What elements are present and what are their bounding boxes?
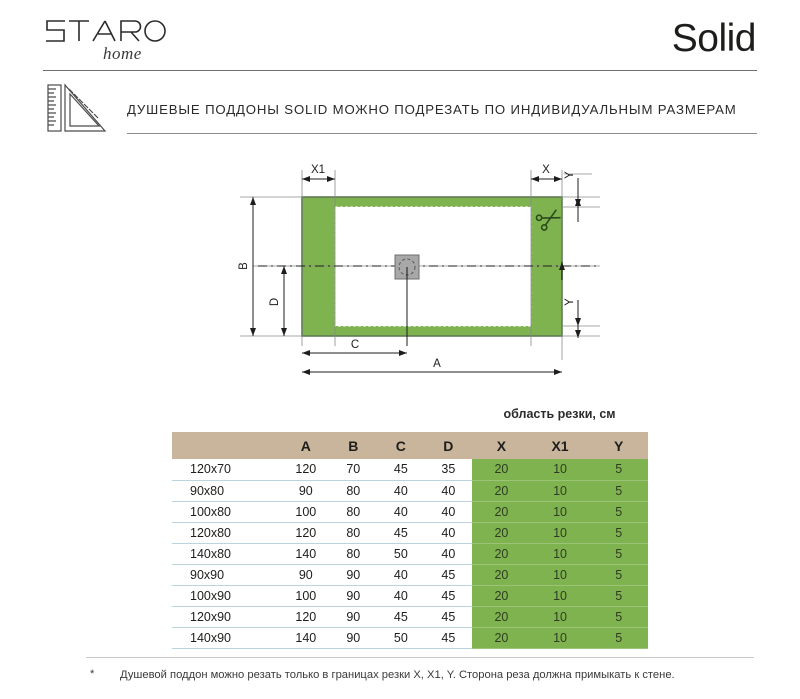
cut-area-label: область резки, см: [472, 407, 647, 421]
cell-x1: 10: [531, 543, 590, 564]
col-header-size: [172, 432, 282, 459]
dimension-c: C: [302, 339, 407, 353]
cell-b: 90: [330, 628, 378, 649]
table-row: 140x9014090504520105: [172, 628, 648, 649]
cell-a: 90: [282, 480, 330, 501]
cell-size: 120x70: [172, 459, 282, 480]
cell-d: 35: [425, 459, 473, 480]
cell-y: 5: [589, 607, 648, 628]
table-row: 120x8012080454020105: [172, 522, 648, 543]
cell-x1: 10: [531, 480, 590, 501]
table-row: 100x9010090404520105: [172, 586, 648, 607]
cell-a: 100: [282, 586, 330, 607]
table-row: 90x909090404520105: [172, 564, 648, 585]
col-header-y: Y: [589, 432, 648, 459]
cell-x: 20: [472, 628, 531, 649]
label-d: D: [269, 298, 281, 306]
table-row: 120x7012070453520105: [172, 459, 648, 480]
col-header-c: C: [377, 432, 425, 459]
col-header-b: B: [330, 432, 378, 459]
shower-tray-diagram: X1 X Y Y B D: [0, 150, 800, 390]
cell-x: 20: [472, 522, 531, 543]
cell-x: 20: [472, 459, 531, 480]
cell-y: 5: [589, 586, 648, 607]
cell-d: 45: [425, 607, 473, 628]
cell-a: 90: [282, 564, 330, 585]
cell-c: 45: [377, 607, 425, 628]
dimension-d: D: [269, 266, 284, 336]
cell-y: 5: [589, 501, 648, 522]
ruler-triangle-icon: [43, 80, 115, 136]
cell-b: 90: [330, 586, 378, 607]
cell-b: 80: [330, 501, 378, 522]
cell-x1: 10: [531, 607, 590, 628]
label-y-top: Y: [564, 171, 576, 179]
table-header-row: A B C D X X1 Y: [172, 432, 648, 459]
cell-a: 140: [282, 543, 330, 564]
cell-d: 45: [425, 586, 473, 607]
cell-d: 40: [425, 522, 473, 543]
col-header-a: A: [282, 432, 330, 459]
dimension-x: X: [531, 164, 562, 179]
dimension-a: A: [302, 358, 562, 372]
cell-x1: 10: [531, 628, 590, 649]
cell-y: 5: [589, 564, 648, 585]
footnote-text: Душевой поддон можно резать только в гра…: [120, 669, 780, 681]
cell-x: 20: [472, 501, 531, 522]
cell-size: 100x90: [172, 586, 282, 607]
cell-b: 80: [330, 543, 378, 564]
cell-y: 5: [589, 480, 648, 501]
cell-c: 50: [377, 628, 425, 649]
cell-d: 45: [425, 564, 473, 585]
cell-x1: 10: [531, 522, 590, 543]
dimension-x1: X1: [302, 164, 335, 179]
dimension-b: B: [238, 197, 253, 336]
cell-x1: 10: [531, 459, 590, 480]
cell-a: 140: [282, 628, 330, 649]
cell-a: 120: [282, 607, 330, 628]
cell-x1: 10: [531, 501, 590, 522]
cell-y: 5: [589, 522, 648, 543]
cell-d: 40: [425, 543, 473, 564]
cell-x: 20: [472, 543, 531, 564]
cell-size: 90x80: [172, 480, 282, 501]
cell-c: 40: [377, 480, 425, 501]
cell-size: 120x80: [172, 522, 282, 543]
cell-b: 80: [330, 522, 378, 543]
label-x1: X1: [311, 164, 325, 176]
cell-x: 20: [472, 607, 531, 628]
cell-c: 50: [377, 543, 425, 564]
footnote-divider: [86, 657, 754, 658]
cell-x1: 10: [531, 564, 590, 585]
dimension-y-bottom: Y: [564, 298, 578, 326]
cell-x: 20: [472, 564, 531, 585]
cell-y: 5: [589, 459, 648, 480]
spec-table-wrapper: A B C D X X1 Y 120x701207045352010590x80…: [172, 432, 648, 650]
cell-c: 40: [377, 501, 425, 522]
label-y-bottom: Y: [564, 298, 576, 306]
cell-x: 20: [472, 586, 531, 607]
cell-a: 120: [282, 522, 330, 543]
cell-c: 40: [377, 586, 425, 607]
cell-y: 5: [589, 628, 648, 649]
footnote-marker: *: [90, 668, 94, 680]
table-row: 120x9012090454520105: [172, 607, 648, 628]
col-header-x: X: [472, 432, 531, 459]
cell-c: 40: [377, 564, 425, 585]
cell-size: 90x90: [172, 564, 282, 585]
cell-d: 40: [425, 501, 473, 522]
cell-d: 40: [425, 480, 473, 501]
cell-size: 140x90: [172, 628, 282, 649]
cell-d: 45: [425, 628, 473, 649]
page-header: home Solid: [0, 0, 800, 72]
cell-c: 45: [377, 459, 425, 480]
cell-size: 120x90: [172, 607, 282, 628]
cell-a: 120: [282, 459, 330, 480]
cell-b: 90: [330, 607, 378, 628]
cell-size: 100x80: [172, 501, 282, 522]
cell-c: 45: [377, 522, 425, 543]
table-row: 140x8014080504020105: [172, 543, 648, 564]
cell-y: 5: [589, 543, 648, 564]
cell-b: 90: [330, 564, 378, 585]
label-b: B: [238, 262, 250, 270]
label-c: C: [351, 339, 359, 351]
cell-a: 100: [282, 501, 330, 522]
table-row: 100x8010080404020105: [172, 501, 648, 522]
label-x: X: [542, 164, 550, 176]
subtitle-divider: [127, 133, 757, 134]
cell-x1: 10: [531, 586, 590, 607]
cell-b: 80: [330, 480, 378, 501]
brand-title: Solid: [672, 17, 756, 61]
cell-x: 20: [472, 480, 531, 501]
cell-b: 70: [330, 459, 378, 480]
col-header-x1: X1: [531, 432, 590, 459]
cell-size: 140x80: [172, 543, 282, 564]
brand-logo: home: [43, 17, 178, 63]
spec-table: A B C D X X1 Y 120x701207045352010590x80…: [172, 432, 648, 649]
col-header-d: D: [425, 432, 473, 459]
page-subtitle: ДУШЕВЫЕ ПОДДОНЫ SOLID МОЖНО ПОДРЕЗАТЬ ПО…: [127, 102, 767, 117]
label-a: A: [433, 358, 441, 370]
logo-sub-text: home: [103, 44, 142, 64]
header-divider: [43, 70, 757, 71]
table-row: 90x809080404020105: [172, 480, 648, 501]
